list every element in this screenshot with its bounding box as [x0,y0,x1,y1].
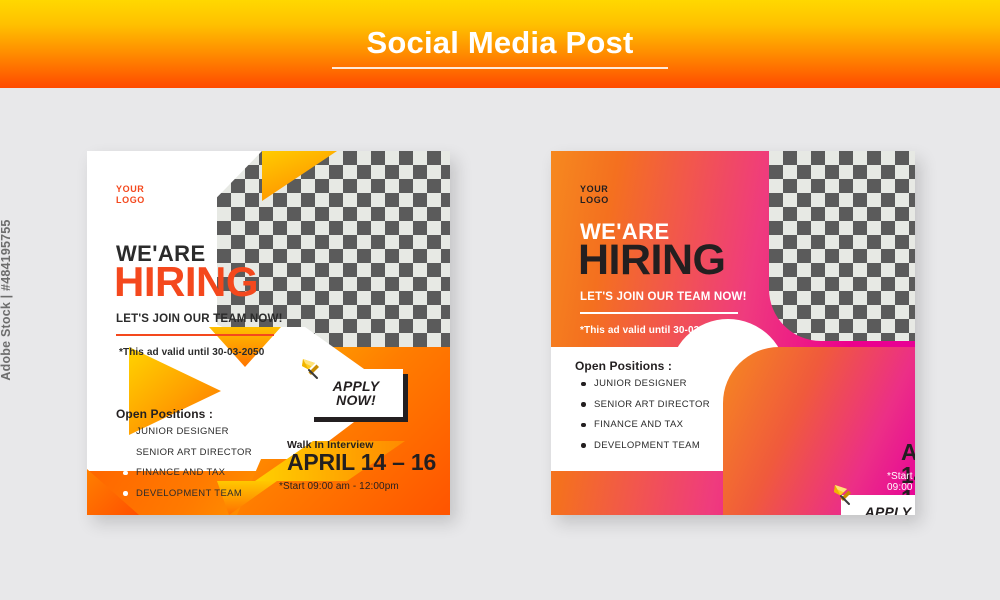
list-item: JUNIOR DESIGNER [581,379,710,389]
logo-placeholder[interactable]: YOUR LOGO [116,184,145,207]
pushpin-icon [298,355,324,381]
subheadline-divider [580,312,738,314]
social-post-card-orange[interactable]: YOUR LOGO WE'ARE HIRING LET'S JOIN OUR T… [87,151,450,515]
list-item: FINANCE AND TAX [123,468,252,478]
list-item: SENIOR ART DIRECTOR [123,448,252,458]
validity-note: *This ad valid until 30-03-2050 [580,325,725,336]
open-positions-list: JUNIOR DESIGNER SENIOR ART DIRECTOR FINA… [123,427,252,509]
list-item: FINANCE AND TAX [581,420,710,430]
logo-placeholder[interactable]: YOUR LOGO [580,184,609,207]
social-post-card-magenta[interactable]: YOUR LOGO WE'ARE HIRING LET'S JOIN OUR T… [551,151,915,515]
page-title: Social Media Post [367,27,634,58]
list-item: JUNIOR DESIGNER [123,427,252,437]
header-banner: Social Media Post [0,0,1000,88]
interview-date: APRIL 14 – 16 [287,451,436,474]
headline-main: HIRING [578,241,726,281]
list-item: SENIOR ART DIRECTOR [581,400,710,410]
list-item: DEVELOPMENT TEAM [123,489,252,499]
pushpin-icon [830,481,856,507]
validity-note: *This ad valid until 30-03-2050 [119,347,264,358]
apply-now-stamp[interactable]: APPLY NOW! [309,369,403,417]
subheadline-divider [116,334,274,336]
open-positions-list: JUNIOR DESIGNER SENIOR ART DIRECTOR FINA… [581,379,710,461]
title-underline [332,67,668,69]
apply-now-stamp[interactable]: APPLY NOW! [841,495,915,515]
interview-details-group: Walk In Interview APRIL 14 – 16 *Start 0… [723,347,915,515]
list-item: DEVELOPMENT TEAM [581,441,710,451]
interview-time: *Start 09:00 am - 12:00pm [279,481,399,492]
apply-now-label: APPLY NOW! [865,505,912,515]
stock-credit-watermark: Adobe Stock | #484195755 [0,219,13,380]
open-positions-title: Open Positions : [575,359,672,373]
image-placeholder-checkerboard [769,151,915,341]
subheadline: LET'S JOIN OUR TEAM NOW! [580,291,747,303]
headline-main: HIRING [114,263,258,302]
open-positions-title: Open Positions : [116,407,213,421]
subheadline: LET'S JOIN OUR TEAM NOW! [116,313,283,325]
apply-now-label: APPLY NOW! [333,379,380,408]
